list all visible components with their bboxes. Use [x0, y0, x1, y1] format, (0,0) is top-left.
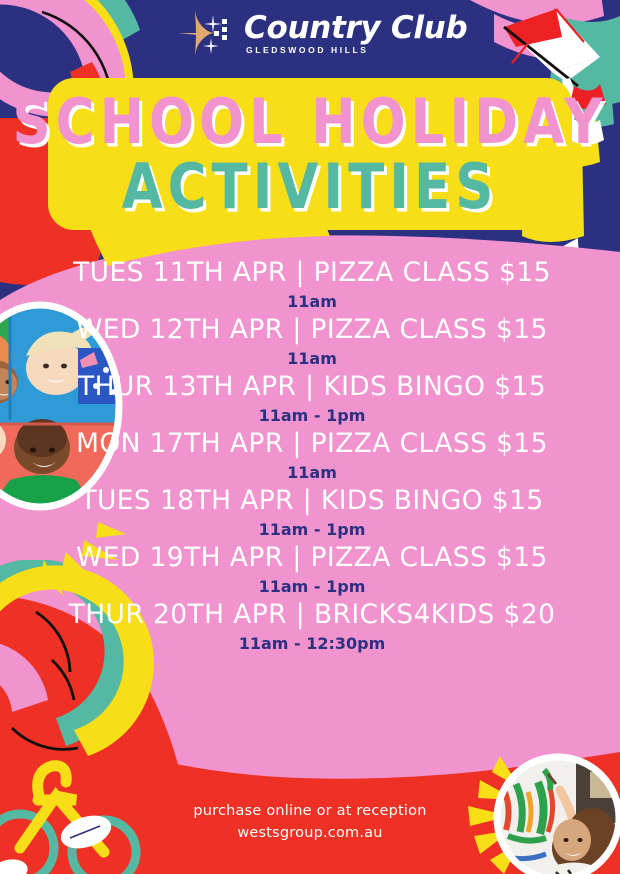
country-club-logo: Country Club GLEDSWOOD HILLS	[178, 4, 478, 62]
title-line-2: ACTIVITIES	[122, 154, 499, 222]
activity-row: TUES 18TH APR | KIDS BINGO $15 11am - 1p…	[4, 486, 620, 543]
activity-row: WED 12TH APR | PIZZA CLASS $15 11am	[4, 315, 620, 372]
activity-row: THUR 13TH APR | KIDS BINGO $15 11am - 1p…	[4, 372, 620, 429]
activity-time: 11am - 1pm	[4, 516, 620, 543]
activity-time: 11am	[4, 459, 620, 486]
poster-canvas: Country Club GLEDSWOOD HILLS SCHOOL HOLI…	[0, 0, 620, 874]
activity-title: WED 12TH APR | PIZZA CLASS $15	[4, 315, 620, 345]
four-point-star-icon	[178, 5, 236, 61]
activity-time: 11am	[4, 288, 620, 315]
poster-title: SCHOOL HOLIDAY ACTIVITIES	[48, 78, 572, 230]
activity-title: TUES 18TH APR | KIDS BINGO $15	[4, 486, 620, 516]
footer-text: purchase online or at reception westsgro…	[0, 800, 620, 844]
activity-title: TUES 11TH APR | PIZZA CLASS $15	[4, 258, 620, 288]
title-line-1: SCHOOL HOLIDAY	[13, 90, 608, 156]
activity-row: TUES 11TH APR | PIZZA CLASS $15 11am	[4, 258, 620, 315]
activity-row: MON 17TH APR | PIZZA CLASS $15 11am	[4, 429, 620, 486]
activity-title: MON 17TH APR | PIZZA CLASS $15	[4, 429, 620, 459]
activity-title: WED 19TH APR | PIZZA CLASS $15	[4, 543, 620, 573]
activity-time: 11am	[4, 345, 620, 372]
footer-line-1: purchase online or at reception	[0, 800, 620, 822]
activity-time: 11am - 12:30pm	[4, 630, 620, 657]
activity-title: THUR 20TH APR | BRICKS4KIDS $20	[4, 600, 620, 630]
logo-subtitle: GLEDSWOOD HILLS	[246, 45, 467, 56]
activity-row: THUR 20TH APR | BRICKS4KIDS $20 11am - 1…	[4, 600, 620, 657]
footer-line-2[interactable]: westsgroup.com.au	[0, 822, 620, 844]
activity-row: WED 19TH APR | PIZZA CLASS $15 11am - 1p…	[4, 543, 620, 600]
activity-schedule-list: TUES 11TH APR | PIZZA CLASS $15 11am WED…	[0, 258, 620, 657]
activity-time: 11am - 1pm	[4, 573, 620, 600]
activity-title: THUR 13TH APR | KIDS BINGO $15	[4, 372, 620, 402]
logo-name: Country Club	[244, 13, 467, 44]
activity-time: 11am - 1pm	[4, 402, 620, 429]
